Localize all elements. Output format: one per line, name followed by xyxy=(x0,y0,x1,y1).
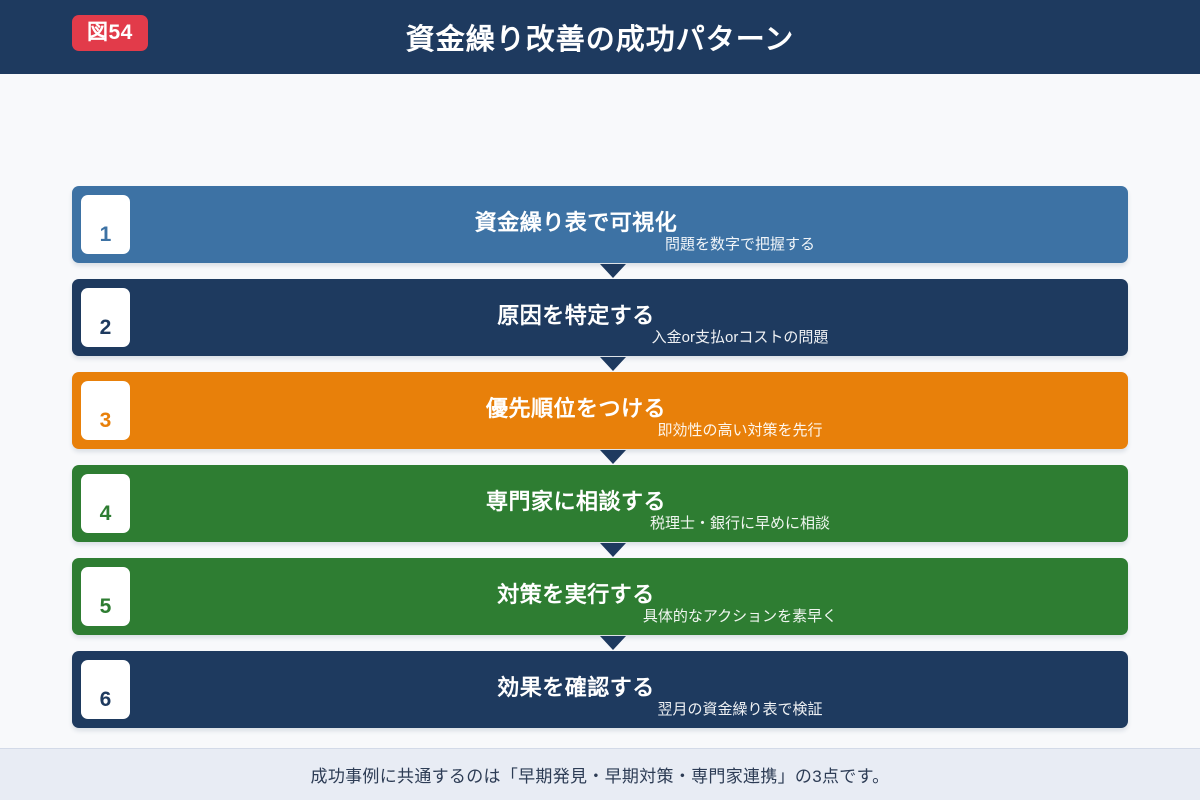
page-title: 資金繰り改善の成功パターン xyxy=(406,16,795,58)
step-text-group: 専門家に相談する税理士・銀行に早めに相談 xyxy=(72,465,1128,542)
step-bar[interactable]: 2原因を特定する入金or支払orコストの問題 xyxy=(72,279,1128,356)
step-title: 原因を特定する xyxy=(72,298,1128,330)
step-bar[interactable]: 3優先順位をつける即効性の高い対策を先行 xyxy=(72,372,1128,449)
step-bar[interactable]: 1資金繰り表で可視化問題を数字で把握する xyxy=(72,186,1128,263)
step-bar[interactable]: 4専門家に相談する税理士・銀行に早めに相談 xyxy=(72,465,1128,542)
step-connector xyxy=(72,542,1128,558)
step-title: 効果を確認する xyxy=(72,670,1128,702)
step-text-group: 優先順位をつける即効性の高い対策を先行 xyxy=(72,372,1128,449)
step-subtitle: 即効性の高い対策を先行 xyxy=(657,419,822,440)
step-subtitle: 具体的なアクションを素早く xyxy=(643,605,837,626)
steps-section: 1資金繰り表で可視化問題を数字で把握する2原因を特定する入金or支払orコストの… xyxy=(0,74,1200,748)
step-title: 専門家に相談する xyxy=(72,484,1128,516)
step-item: 5対策を実行する具体的なアクションを素早く xyxy=(72,558,1128,635)
step-title: 対策を実行する xyxy=(72,577,1128,609)
step-item: 6効果を確認する翌月の資金繰り表で検証 xyxy=(72,651,1128,728)
arrow-down-icon xyxy=(600,543,626,557)
step-text-group: 効果を確認する翌月の資金繰り表で検証 xyxy=(72,651,1128,728)
footer-bar: 成功事例に共通するのは「早期発見・早期対策・専門家連携」の3点です。 xyxy=(0,748,1200,800)
step-bar[interactable]: 6効果を確認する翌月の資金繰り表で検証 xyxy=(72,651,1128,728)
step-title: 優先順位をつける xyxy=(72,391,1128,423)
step-connector xyxy=(72,356,1128,372)
step-item: 3優先順位をつける即効性の高い対策を先行 xyxy=(72,372,1128,449)
arrow-down-icon xyxy=(600,357,626,371)
step-connector xyxy=(72,449,1128,465)
step-list: 1資金繰り表で可視化問題を数字で把握する2原因を特定する入金or支払orコストの… xyxy=(72,186,1128,728)
step-connector xyxy=(72,635,1128,651)
step-subtitle: 翌月の資金繰り表で検証 xyxy=(657,698,822,719)
step-bar[interactable]: 5対策を実行する具体的なアクションを素早く xyxy=(72,558,1128,635)
step-title: 資金繰り表で可視化 xyxy=(72,205,1128,237)
arrow-down-icon xyxy=(600,450,626,464)
step-subtitle: 税理士・銀行に早めに相談 xyxy=(650,512,830,533)
step-text-group: 対策を実行する具体的なアクションを素早く xyxy=(72,558,1128,635)
step-subtitle: 入金or支払orコストの問題 xyxy=(652,326,829,347)
arrow-down-icon xyxy=(600,636,626,650)
footer-note: 成功事例に共通するのは「早期発見・早期対策・専門家連携」の3点です。 xyxy=(311,762,890,787)
step-text-group: 資金繰り表で可視化問題を数字で把握する xyxy=(72,186,1128,263)
step-item: 2原因を特定する入金or支払orコストの問題 xyxy=(72,279,1128,356)
header-bar: 図54 資金繰り改善の成功パターン xyxy=(0,0,1200,74)
figure-number-badge: 図54 xyxy=(72,15,148,51)
step-connector xyxy=(72,263,1128,279)
step-text-group: 原因を特定する入金or支払orコストの問題 xyxy=(72,279,1128,356)
step-subtitle: 問題を数字で把握する xyxy=(665,233,815,254)
step-item: 4専門家に相談する税理士・銀行に早めに相談 xyxy=(72,465,1128,542)
figure-page: 図54 資金繰り改善の成功パターン 1資金繰り表で可視化問題を数字で把握する2原… xyxy=(0,0,1200,800)
step-item: 1資金繰り表で可視化問題を数字で把握する xyxy=(72,186,1128,263)
arrow-down-icon xyxy=(600,264,626,278)
